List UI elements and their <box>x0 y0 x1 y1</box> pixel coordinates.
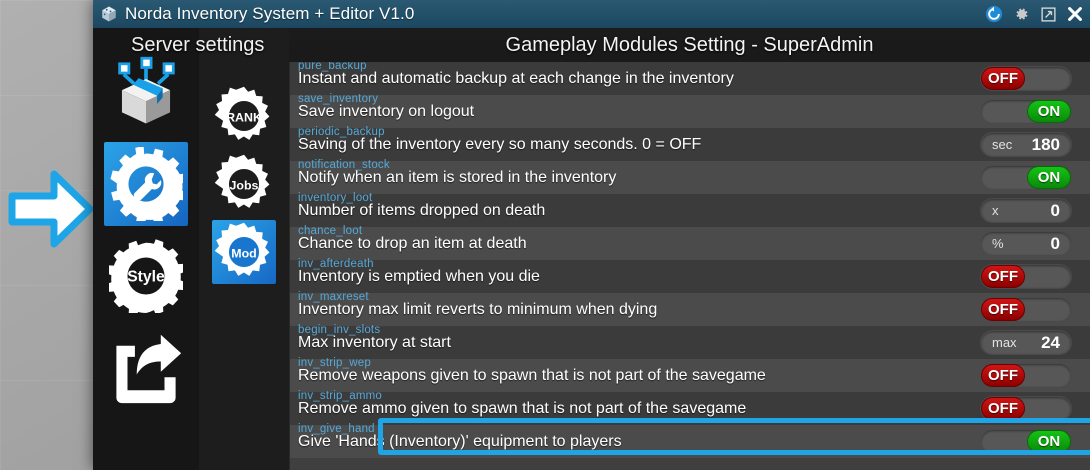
share-export-icon <box>109 331 183 405</box>
toggle-state-label: ON <box>1027 430 1071 453</box>
row-text: inv_maxresetInventory max limit reverts … <box>298 293 962 326</box>
toggle-inv_strip_wep[interactable]: OFF <box>980 363 1072 388</box>
settings-row: inventory_lootNumber of items dropped on… <box>290 194 1090 227</box>
subtab-jobs[interactable]: Jobs <box>212 152 276 216</box>
value-text: 180 <box>1032 135 1060 155</box>
sidebar-item-inventory[interactable] <box>104 50 188 134</box>
gear-icon <box>1012 5 1030 23</box>
window-title: Norda Inventory System + Editor V1.0 <box>125 4 414 24</box>
row-text: pure_backupInstant and automatic backup … <box>298 62 962 95</box>
title-bar: Norda Inventory System + Editor V1.0 <box>93 0 1090 28</box>
settings-row: inv_maxresetInventory max limit reverts … <box>290 293 1090 326</box>
sidebar-item-style[interactable]: Style <box>104 234 188 318</box>
row-text: inv_afterdeathInventory is emptied when … <box>298 260 962 293</box>
settings-row: inv_strip_ammoRemove ammo given to spawn… <box>290 392 1090 425</box>
expand-icon <box>1040 6 1057 23</box>
setting-description: Instant and automatic backup at each cha… <box>298 70 734 88</box>
sidebar-item-settings[interactable] <box>104 142 188 226</box>
toggle-state-label: OFF <box>981 67 1025 90</box>
control-cell: sec180 <box>962 128 1090 161</box>
sidebar-item-export[interactable] <box>104 326 188 410</box>
setting-description: Inventory is emptied when you die <box>298 268 540 286</box>
page-title: Gameplay Modules Setting - SuperAdmin <box>289 34 1090 57</box>
toggle-inv_maxreset[interactable]: OFF <box>980 297 1072 322</box>
svg-text:Mod: Mod <box>231 246 256 260</box>
control-cell: %0 <box>962 227 1090 260</box>
row-text: save_inventorySave inventory on logout <box>298 95 962 128</box>
number-input-inventory_loot[interactable]: x0 <box>980 198 1072 223</box>
toggle-state-label: OFF <box>981 364 1025 387</box>
refresh-button[interactable] <box>985 5 1003 23</box>
toggle-inv_give_hand[interactable]: ON <box>980 429 1072 454</box>
row-text: begin_inv_slotsMax inventory at start <box>298 326 962 359</box>
settings-row: notification_stockNotify when an item is… <box>290 161 1090 194</box>
toggle-state-label: OFF <box>981 298 1025 321</box>
setting-description: Remove weapons given to spawn that is no… <box>298 367 766 385</box>
network-box-icon <box>109 55 183 129</box>
settings-row: inv_afterdeathInventory is emptied when … <box>290 260 1090 293</box>
control-cell: OFF <box>962 260 1090 293</box>
app-window: Norda Inventory System + Editor V1.0 <box>93 0 1090 470</box>
setting-description: Saving of the inventory every so many se… <box>298 136 701 154</box>
value-text: 0 <box>1051 234 1060 254</box>
toggle-notification_stock[interactable]: ON <box>980 165 1072 190</box>
toggle-state-label: OFF <box>981 265 1025 288</box>
settings-button[interactable] <box>1012 5 1030 23</box>
svg-text:RANK: RANK <box>226 110 262 124</box>
control-cell: OFF <box>962 359 1090 392</box>
unit-label: sec <box>992 137 1012 152</box>
unit-label: max <box>992 335 1017 350</box>
setting-description: Number of items dropped on death <box>298 202 545 220</box>
close-icon <box>1066 5 1084 23</box>
row-text: periodic_backupSaving of the inventory e… <box>298 128 962 161</box>
toggle-inv_afterdeath[interactable]: OFF <box>980 264 1072 289</box>
toggle-pure_backup[interactable]: OFF <box>980 66 1072 91</box>
svg-text:Jobs: Jobs <box>230 178 259 192</box>
control-cell: ON <box>962 161 1090 194</box>
settings-row: chance_lootChance to drop an item at dea… <box>290 227 1090 260</box>
setting-description: Inventory max limit reverts to minimum w… <box>298 301 657 319</box>
settings-row: save_inventorySave inventory on logoutON <box>290 95 1090 128</box>
row-text: inv_strip_ammoRemove ammo given to spawn… <box>298 392 962 425</box>
value-text: 0 <box>1051 201 1060 221</box>
row-text: inventory_lootNumber of items dropped on… <box>298 194 962 227</box>
setting-description: Save inventory on logout <box>298 103 474 121</box>
refresh-icon <box>985 5 1003 23</box>
setting-description: Notify when an item is stored in the inv… <box>298 169 616 187</box>
dice-box-icon <box>100 5 118 23</box>
setting-description: Chance to drop an item at death <box>298 235 527 253</box>
setting-description: Give 'Hands (Inventory)' equipment to pl… <box>298 433 622 451</box>
subtab-rank[interactable]: RANK <box>212 84 276 148</box>
close-button[interactable] <box>1066 5 1084 23</box>
subtab-mod[interactable]: Mod <box>212 220 276 284</box>
number-input-chance_loot[interactable]: %0 <box>980 231 1072 256</box>
window-body: Server settings Gameplay Modules Setting… <box>93 28 1090 470</box>
toggle-inv_strip_ammo[interactable]: OFF <box>980 396 1072 421</box>
pointer-arrow-icon <box>8 168 94 250</box>
number-input-begin_inv_slots[interactable]: max24 <box>980 330 1072 355</box>
control-cell: ON <box>962 95 1090 128</box>
row-text: inv_give_handGive 'Hands (Inventory)' eq… <box>298 425 962 458</box>
setting-description: Remove ammo given to spawn that is not p… <box>298 400 746 418</box>
row-text: chance_lootChance to drop an item at dea… <box>298 227 962 260</box>
gear-wrench-icon <box>109 147 183 221</box>
control-cell: ON <box>962 425 1090 458</box>
svg-text:Style: Style <box>127 269 165 286</box>
settings-row: periodic_backupSaving of the inventory e… <box>290 128 1090 161</box>
title-bar-buttons <box>985 0 1084 28</box>
gear-mod-icon: Mod <box>213 221 275 283</box>
toggle-state-label: ON <box>1027 166 1071 189</box>
control-cell: max24 <box>962 326 1090 359</box>
maximize-button[interactable] <box>1039 5 1057 23</box>
gear-style-icon: Style <box>109 239 183 313</box>
sidebar-title: Server settings <box>131 34 264 57</box>
gear-jobs-icon: Jobs <box>213 153 275 215</box>
settings-row: pure_backupInstant and automatic backup … <box>290 62 1090 95</box>
toggle-state-label: ON <box>1027 100 1071 123</box>
control-cell: x0 <box>962 194 1090 227</box>
unit-label: x <box>992 203 999 218</box>
row-text: inv_strip_wepRemove weapons given to spa… <box>298 359 962 392</box>
settings-row: inv_give_handGive 'Hands (Inventory)' eq… <box>290 425 1090 458</box>
toggle-save_inventory[interactable]: ON <box>980 99 1072 124</box>
control-cell: OFF <box>962 293 1090 326</box>
unit-label: % <box>992 236 1004 251</box>
number-input-periodic_backup[interactable]: sec180 <box>980 132 1072 157</box>
row-text: notification_stockNotify when an item is… <box>298 161 962 194</box>
settings-list: pure_backupInstant and automatic backup … <box>289 62 1090 470</box>
control-cell: OFF <box>962 392 1090 425</box>
settings-row: begin_inv_slotsMax inventory at startmax… <box>290 326 1090 359</box>
value-text: 24 <box>1041 333 1060 353</box>
sidebar: Style <box>93 28 199 470</box>
toggle-state-label: OFF <box>981 397 1025 420</box>
gear-rank-icon: RANK <box>213 85 275 147</box>
settings-row: inv_strip_wepRemove weapons given to spa… <box>290 359 1090 392</box>
setting-description: Max inventory at start <box>298 334 451 352</box>
control-cell: OFF <box>962 62 1090 95</box>
sub-tab-bar: RANK Jobs Mod <box>199 28 289 470</box>
